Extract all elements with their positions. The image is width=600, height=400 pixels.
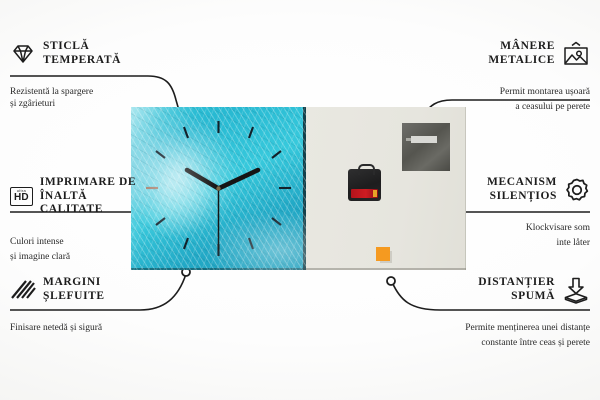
callout-title-line1: MÂNERE — [488, 40, 555, 54]
ultra-hd-icon-big-label: HD — [14, 193, 29, 203]
callout-header-metal-handles: MÂNERE METALICE — [450, 40, 590, 67]
callout-title-line2: ȘLEFUITE — [43, 290, 105, 304]
battery-terminal — [373, 190, 377, 197]
callout-sub-line2: constante între ceas și perete — [440, 338, 590, 350]
hour-hand — [187, 170, 219, 189]
callout-sub-tempered-glass: Rezistentă la spargere și zgârieturi — [10, 87, 150, 110]
callout-polished-edges: MARGINI ȘLEFUITE Finisare netedă și sigu… — [10, 276, 150, 335]
callout-sub-silent-mechanism: Klockvisare som inte låter — [450, 223, 590, 250]
clock-back-panel — [306, 107, 466, 270]
callout-sub-polished-edges: Finisare netedă și sigură — [10, 323, 150, 335]
clock-dial — [131, 107, 306, 270]
callout-title-line1: MECANISM — [487, 176, 557, 190]
callout-header-hd-print: ultra HD IMPRIMARE DE ÎNALTĂ CALITATE — [10, 176, 150, 217]
callout-title-line1: DISTANȚIER — [478, 276, 555, 290]
connector-foam-spacer — [392, 282, 440, 310]
callout-hd-print: ultra HD IMPRIMARE DE ÎNALTĂ CALITATE Cu… — [10, 176, 150, 263]
hanger-slot — [411, 136, 437, 143]
node-foam-spacer — [387, 277, 395, 285]
callout-title-line2: METALICE — [488, 54, 555, 68]
callout-sub-line2: și imagine clară — [10, 252, 150, 264]
minute-hand — [219, 170, 259, 189]
callout-sub-line2: a ceasului pe perete — [450, 102, 590, 114]
clock-front-panel — [131, 107, 306, 270]
callout-foam-spacer: DISTANȚIER SPUMĂ Permite menținerea unei… — [440, 276, 590, 350]
callout-sub-metal-handles: Permit montarea ușoară a ceasului pe per… — [450, 87, 590, 114]
callout-title-line1: MARGINI — [43, 276, 105, 290]
battery — [351, 189, 378, 198]
callout-header-polished-edges: MARGINI ȘLEFUITE — [10, 276, 150, 303]
diamond-icon — [10, 43, 36, 65]
product-image — [131, 107, 466, 270]
infographic-canvas: STICLĂ TEMPERATĂ Rezistentă la spargere … — [0, 0, 600, 400]
callout-sub-line2: inte låter — [450, 238, 590, 250]
callout-header-silent-mechanism: MECANISM SILENȚIOS — [450, 176, 590, 203]
callout-sub-line1: Permit montarea ușoară — [450, 87, 590, 99]
callout-sub-line1: Rezistentă la spargere — [10, 87, 150, 99]
callout-sub-line1: Culori intense — [10, 237, 150, 249]
callout-tempered-glass: STICLĂ TEMPERATĂ Rezistentă la spargere … — [10, 40, 150, 110]
callout-sub-line1: Permite menținerea unei distanțe — [440, 323, 590, 335]
callout-metal-handles: MÂNERE METALICE Permit montarea ușoară a… — [450, 40, 590, 114]
callout-title-line2: TEMPERATĂ — [43, 54, 121, 68]
diagonal-stripes-icon — [10, 279, 36, 301]
ultra-hd-icon: ultra HD — [10, 187, 33, 206]
callout-header-foam-spacer: DISTANȚIER SPUMĂ — [440, 276, 590, 303]
callout-silent-mechanism: MECANISM SILENȚIOS Klockvisare som inte … — [450, 176, 590, 250]
callout-title-line1: IMPRIMARE DE — [40, 176, 150, 190]
callout-header-tempered-glass: STICLĂ TEMPERATĂ — [10, 40, 150, 67]
picture-hanger-icon — [562, 42, 590, 66]
press-down-pad-icon — [562, 277, 590, 303]
callout-title-line2: SILENȚIOS — [487, 190, 557, 204]
foam-spacer — [376, 247, 390, 261]
callout-title-line2: ÎNALTĂ CALITATE — [40, 190, 150, 217]
callout-sub-hd-print: Culori intense și imagine clară — [10, 237, 150, 264]
callout-sub-line1: Finisare netedă și sigură — [10, 323, 150, 335]
mechanism-loop — [358, 164, 375, 175]
callout-title-line2: SPUMĂ — [478, 290, 555, 304]
clock-center-pin — [216, 186, 220, 190]
callout-sub-line2: și zgârieturi — [10, 99, 150, 111]
metal-hanger-plate — [402, 123, 450, 171]
callout-title-line1: STICLĂ — [43, 40, 121, 54]
callout-sub-line1: Klockvisare som — [450, 223, 590, 235]
clock-mechanism — [348, 169, 381, 201]
callout-sub-foam-spacer: Permite menținerea unei distanțe constan… — [440, 323, 590, 350]
gear-icon — [564, 178, 590, 202]
